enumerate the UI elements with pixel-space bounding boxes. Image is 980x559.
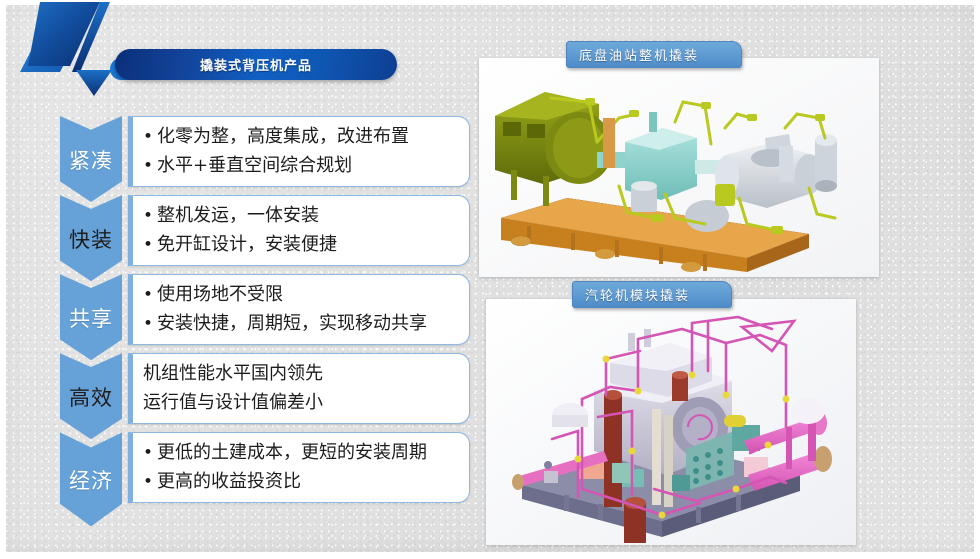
picture-label-bottom: 汽轮机模块撬装 — [572, 281, 732, 308]
slide-root: 撬装式背压机产品 紧凑化零为整，高度集成，改进布置水平+垂直空间综合规划快装整机… — [0, 0, 980, 559]
company-logo-mark — [14, 0, 138, 98]
feature-tag-label: 高效 — [69, 388, 113, 409]
picture-label-top: 底盘油站整机撬装 — [566, 41, 742, 68]
feature-bullet-line: 更低的土建成本，更短的安装周期 — [143, 440, 457, 466]
feature-tag-chevron[interactable]: 快装 — [60, 195, 122, 281]
feature-bullet-line: 安装快捷，周期短，实现移动共享 — [143, 311, 457, 337]
feature-text-box: 机组性能水平国内领先运行值与设计值偏差小 — [128, 353, 470, 424]
feature-text-box: 使用场地不受限安装快捷，周期短，实现移动共享 — [128, 274, 470, 345]
feature-bullet-line: 机组性能水平国内领先 — [143, 361, 457, 387]
feature-bullet-line: 更高的收益投资比 — [143, 469, 457, 495]
feature-row: 快装整机发运，一体安装免开缸设计，安装便捷 — [60, 195, 470, 266]
picture-chassis-oil-station[interactable] — [479, 58, 879, 277]
slide-title-banner: 撬装式背压机产品 — [115, 49, 397, 80]
feature-row: 共享使用场地不受限安装快捷，周期短，实现移动共享 — [60, 274, 470, 345]
feature-bullet-line: 免开缸设计，安装便捷 — [143, 232, 457, 258]
feature-row: 经济更低的土建成本，更短的安装周期更高的收益投资比 — [60, 432, 470, 503]
picture-turbine-module[interactable] — [486, 299, 856, 545]
feature-text-box: 整机发运，一体安装免开缸设计，安装便捷 — [128, 195, 470, 266]
feature-tag-label: 经济 — [69, 471, 113, 492]
feature-tag-label: 共享 — [69, 309, 113, 330]
feature-bullet-line: 运行值与设计值偏差小 — [143, 390, 457, 416]
feature-bullet-line: 水平+垂直空间综合规划 — [143, 153, 457, 179]
feature-row: 紧凑化零为整，高度集成，改进布置水平+垂直空间综合规划 — [60, 116, 470, 187]
feature-row: 高效机组性能水平国内领先运行值与设计值偏差小 — [60, 353, 470, 424]
feature-list: 紧凑化零为整，高度集成，改进布置水平+垂直空间综合规划快装整机发运，一体安装免开… — [60, 116, 470, 511]
feature-tag-chevron[interactable]: 紧凑 — [60, 116, 122, 202]
feature-tag-chevron[interactable]: 高效 — [60, 353, 122, 439]
feature-bullet-line: 整机发运，一体安装 — [143, 203, 457, 229]
feature-bullet-line: 使用场地不受限 — [143, 282, 457, 308]
feature-bullet-line: 化零为整，高度集成，改进布置 — [143, 124, 457, 150]
feature-tag-chevron[interactable]: 共享 — [60, 274, 122, 360]
feature-tag-label: 紧凑 — [69, 151, 113, 172]
feature-tag-label: 快装 — [69, 230, 113, 251]
picture-label-bottom-text: 汽轮机模块撬装 — [585, 285, 690, 304]
picture-label-top-text: 底盘油站整机撬装 — [579, 45, 699, 64]
feature-text-box: 更低的土建成本，更短的安装周期更高的收益投资比 — [128, 432, 470, 503]
feature-text-box: 化零为整，高度集成，改进布置水平+垂直空间综合规划 — [128, 116, 470, 187]
page-title: 撬装式背压机产品 — [200, 55, 312, 74]
